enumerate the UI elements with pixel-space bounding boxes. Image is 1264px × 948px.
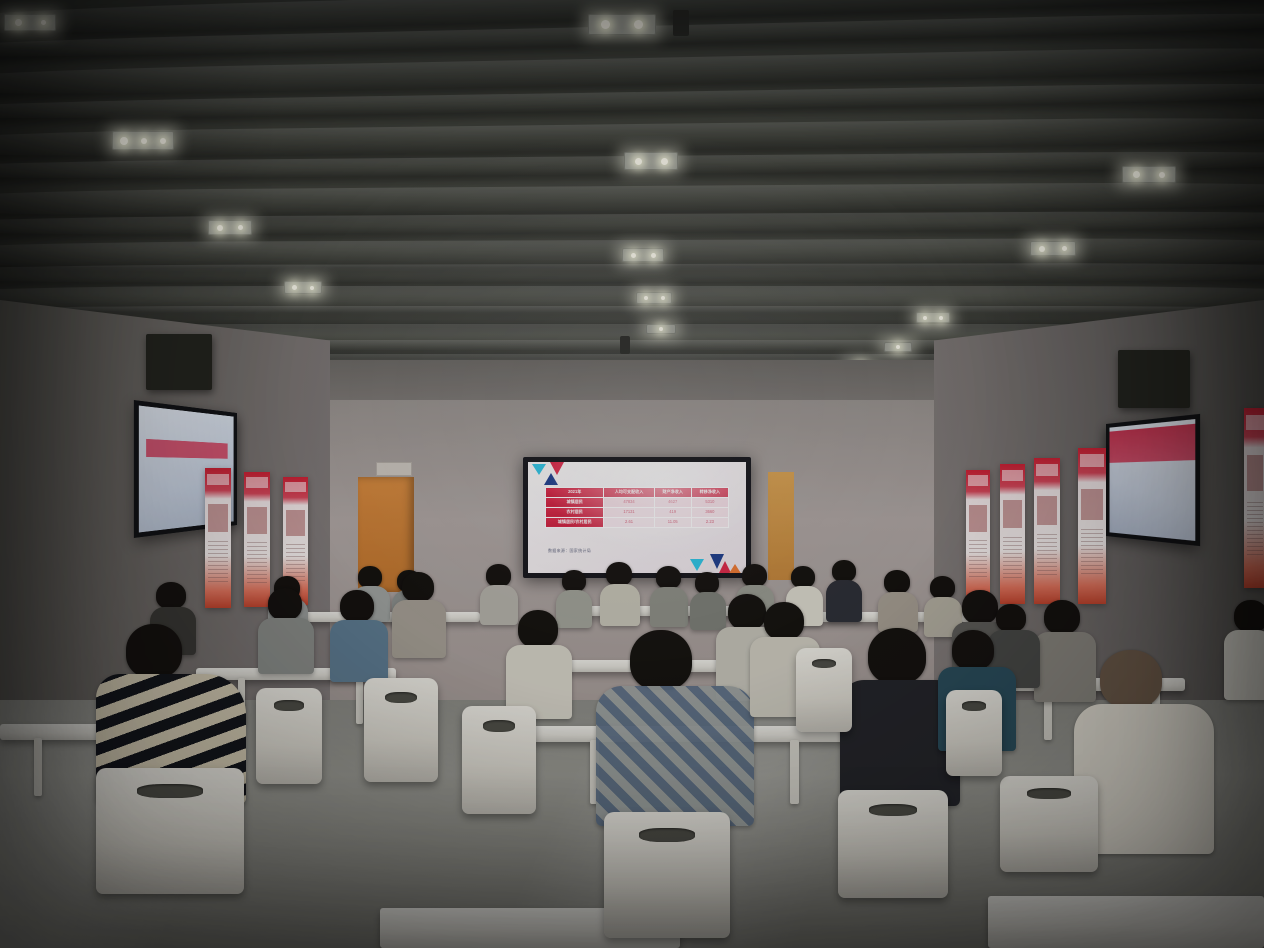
ceiling-downlight <box>884 342 912 352</box>
cell-value: 419 <box>654 507 691 517</box>
desk-leg <box>34 738 42 796</box>
cell-value: 47834 <box>604 497 654 507</box>
ceiling-downlight <box>646 324 676 334</box>
wall-poster <box>1244 408 1264 588</box>
wall-vent <box>376 462 412 476</box>
chair[interactable] <box>364 678 438 782</box>
table-corner-label: 2021年 <box>546 488 604 498</box>
chair-handle-slot <box>812 659 837 668</box>
triangle-navy-icon <box>544 473 558 485</box>
cell-value: 3660 <box>691 507 728 517</box>
chair[interactable] <box>838 790 948 898</box>
desk-leg <box>790 740 799 804</box>
wall-mounted-display-right[interactable] <box>1106 414 1200 546</box>
slide-content: 2021年 人均可支配收入 财产净收入 转移净收入 城镇居民 47834 462… <box>528 462 746 573</box>
ceiling-downlight <box>622 248 664 262</box>
triangle-cyan-icon <box>690 559 704 571</box>
table-row: 城镇居民/农村居民 2.61 11.05 2.23 <box>546 517 729 527</box>
chair[interactable] <box>462 706 536 814</box>
ceiling-downlight <box>588 14 656 35</box>
ceiling-downlight <box>636 292 672 304</box>
table-row: 城镇居民 47834 4627 5310 <box>546 497 729 507</box>
row-label: 农村居民 <box>546 507 604 517</box>
chair-handle-slot <box>962 701 987 710</box>
cell-value: 4627 <box>654 497 691 507</box>
chair[interactable] <box>256 688 322 784</box>
chair[interactable] <box>604 812 730 938</box>
chair[interactable] <box>96 768 244 894</box>
cell-value: 11.05 <box>654 517 691 527</box>
table-col-header: 财产净收入 <box>654 488 691 498</box>
chair-handle-slot <box>385 692 418 703</box>
ceiling-downlight <box>4 14 56 31</box>
chair[interactable] <box>946 690 1002 776</box>
chair[interactable] <box>1000 776 1098 872</box>
table-row: 农村居民 17131 419 3660 <box>546 507 729 517</box>
desk <box>300 612 480 622</box>
wall-speaker-left <box>146 334 212 390</box>
wall-speaker-right <box>1118 350 1190 408</box>
row-label: 城镇居民 <box>546 497 604 507</box>
lecture-hall-photo: 2021年 人均可支配收入 财产净收入 转移净收入 城镇居民 47834 462… <box>0 0 1264 948</box>
ceiling-downlight <box>1030 241 1076 256</box>
triangle-orange-icon <box>728 564 742 573</box>
wall-poster <box>966 470 990 604</box>
cell-value: 2.23 <box>691 517 728 527</box>
wall-poster <box>244 472 270 607</box>
chair-handle-slot <box>639 828 694 842</box>
ceiling-downlight <box>624 152 678 170</box>
ceiling-downlight <box>916 312 950 323</box>
table-col-header: 转移净收入 <box>691 488 728 498</box>
ceiling-downlight <box>112 131 174 150</box>
table-col-header: 人均可支配收入 <box>604 488 654 498</box>
ceiling-projector-mount <box>673 10 689 36</box>
cell-value: 17131 <box>604 507 654 517</box>
ceiling-sensor <box>620 336 630 354</box>
wall-poster <box>205 468 231 608</box>
ceiling-downlight <box>284 281 322 294</box>
desk <box>988 896 1264 948</box>
door-right[interactable] <box>768 472 794 580</box>
table-header-row: 2021年 人均可支配收入 财产净收入 转移净收入 <box>546 488 729 498</box>
wall-poster <box>1000 464 1025 604</box>
cell-value: 2.61 <box>604 517 654 527</box>
row-label: 城镇居民/农村居民 <box>546 517 604 527</box>
wall-poster <box>1034 458 1060 604</box>
chair-handle-slot <box>137 784 202 798</box>
chair-handle-slot <box>274 700 303 711</box>
chair[interactable] <box>796 648 852 732</box>
slide-source-note: 数据来源：国家统计局 <box>548 548 591 554</box>
wall-poster <box>1078 448 1106 604</box>
chair-handle-slot <box>483 720 516 732</box>
cell-value: 5310 <box>691 497 728 507</box>
income-data-table: 2021年 人均可支配收入 财产净收入 转移净收入 城镇居民 47834 462… <box>545 487 729 528</box>
chair-handle-slot <box>1027 788 1070 799</box>
ceiling-downlight <box>1122 166 1176 183</box>
ceiling-downlight <box>208 220 252 235</box>
chair-handle-slot <box>869 804 917 816</box>
desk-leg <box>356 678 363 724</box>
projection-screen[interactable]: 2021年 人均可支配收入 财产净收入 转移净收入 城镇居民 47834 462… <box>523 457 751 578</box>
